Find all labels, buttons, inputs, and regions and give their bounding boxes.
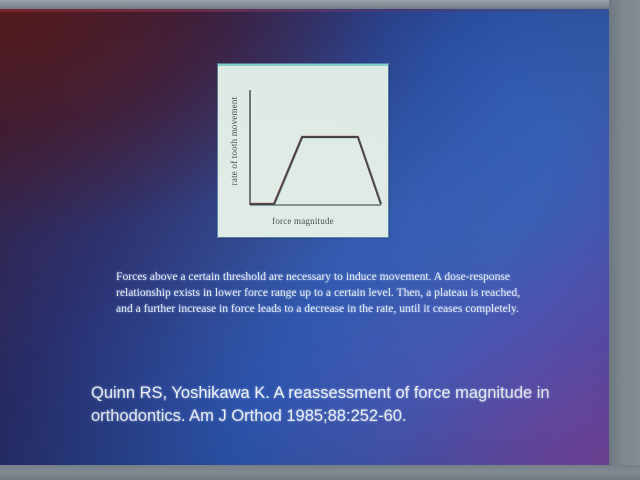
chart-plot-area: rate of tooth movement force magnitude (218, 64, 388, 237)
chart-y-axis-label: rate of tooth movement (229, 86, 239, 196)
chart-panel: rate of tooth movement force magnitude (218, 64, 388, 237)
slide-body-paragraph: Forces above a certain threshold are nec… (116, 269, 528, 318)
slide-citation: Quinn RS, Yoshikawa K. A reassessment of… (91, 382, 561, 428)
force-response-curve-svg (218, 64, 388, 237)
screen-edge-bottom (0, 465, 640, 480)
slide-photograph: rate of tooth movement force magnitude F… (0, 0, 640, 480)
screen-edge-top (0, 0, 640, 9)
screen-edge-right (609, 0, 640, 480)
presentation-slide: rate of tooth movement force magnitude F… (0, 9, 609, 465)
slide-top-fringe (0, 9, 609, 12)
chart-x-axis-label: force magnitude (218, 216, 388, 226)
